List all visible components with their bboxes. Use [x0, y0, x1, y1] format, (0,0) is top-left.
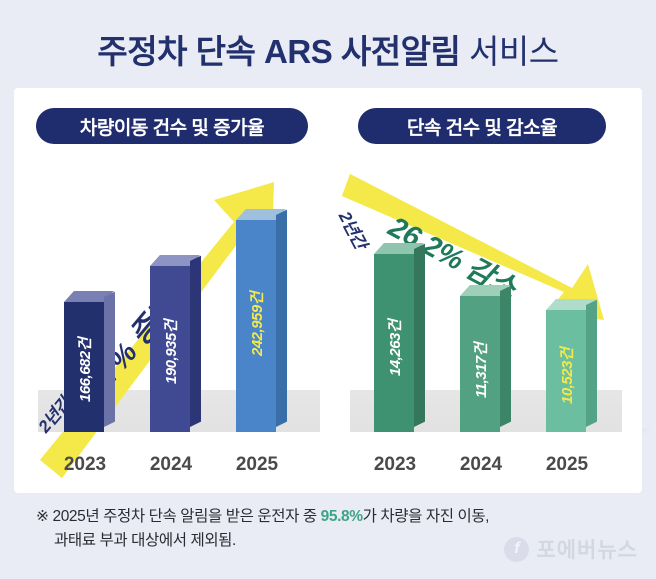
bar-side-face — [276, 210, 287, 427]
chart-enforcement: 2년간 26.2% 감소 14,263건 — [340, 160, 640, 490]
bar-2023: 14,263건 — [374, 254, 414, 432]
page-title-bold: 주정차 단속 ARS 사전알림 — [97, 33, 460, 70]
bar-value-label-2025: 10,523건 — [546, 364, 586, 404]
bar-side-face — [586, 300, 597, 427]
footnote-text-b: 가 차량을 자진 이동, — [363, 508, 490, 525]
page-title: 주정차 단속 ARS 사전알림 서비스 — [97, 25, 558, 73]
bar-side-face — [414, 244, 425, 427]
bar-side-face — [190, 256, 201, 427]
bar-2025: 10,523건 — [546, 310, 586, 432]
x-axis-labels-right: 2023 2024 2025 — [340, 446, 640, 476]
bars-enforcement: 14,263건 11,317건 — [340, 162, 640, 432]
watermark-logo: f 포에버뉴스 — [504, 534, 638, 564]
bar-value-label-2024: 190,935건 — [150, 344, 190, 384]
chart-vehicle-move: 2년간 45.7% 증가 166,682건 — [24, 160, 334, 490]
year-label-2023: 2023 — [50, 454, 120, 476]
year-label-2025: 2025 — [532, 454, 602, 476]
footnote-highlight-percent: 95.8% — [321, 508, 363, 525]
bar-value-label-2024: 11,317건 — [460, 358, 500, 398]
year-label-2024: 2024 — [136, 454, 206, 476]
watermark-text: 포에버뉴스 — [536, 534, 638, 564]
bar-side-face — [500, 286, 511, 427]
section-header-enforcement: 단속 건수 및 감소율 — [358, 108, 606, 144]
watermark-f-icon: f — [504, 537, 529, 562]
bar-2025: 242,959건 — [236, 220, 276, 432]
bar-value-label-2025: 242,959건 — [236, 316, 276, 356]
year-label-2023: 2023 — [360, 454, 430, 476]
page-title-light: 서비스 — [460, 33, 558, 70]
footnote-text-a: ※ 2025년 주정차 단속 알림을 받은 운전자 중 — [36, 508, 321, 525]
year-label-2025: 2025 — [222, 454, 292, 476]
bar-2024: 190,935건 — [150, 266, 190, 432]
section-header-vehicle-move: 차량이동 건수 및 증가율 — [36, 108, 308, 144]
bar-2024: 11,317건 — [460, 296, 500, 432]
bar-side-face — [104, 292, 115, 427]
bars-vehicle-move: 166,682건 190,935건 — [24, 162, 334, 432]
bar-2023: 166,682건 — [64, 302, 104, 432]
footnote-line-1: ※ 2025년 주정차 단속 알림을 받은 운전자 중 95.8%가 차량을 자… — [36, 505, 616, 529]
infographic-page: 주정차 단속 ARS 사전알림 서비스 차량이동 건수 및 증가율 단속 건수 … — [0, 0, 656, 579]
bar-value-label-2023: 166,682건 — [64, 362, 104, 402]
bar-value-label-2023: 14,263건 — [374, 336, 414, 376]
year-label-2024: 2024 — [446, 454, 516, 476]
page-title-bar: 주정차 단속 ARS 사전알림 서비스 — [0, 18, 656, 80]
x-axis-labels-left: 2023 2024 2025 — [24, 446, 334, 476]
